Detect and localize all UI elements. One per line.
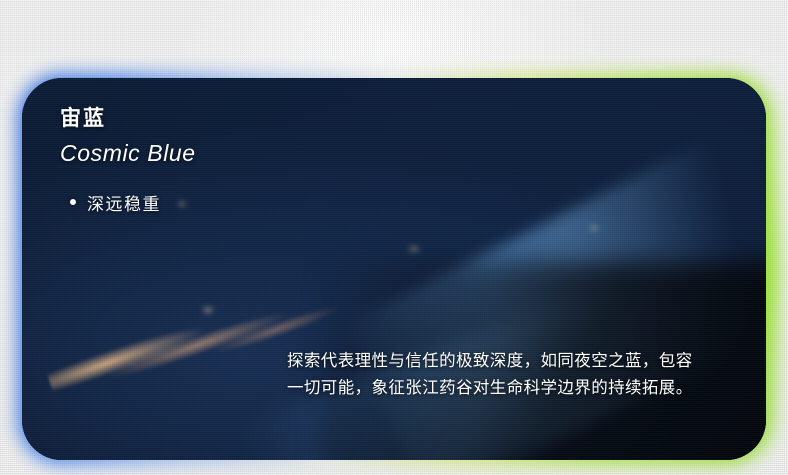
heading-block: 宙蓝 Cosmic Blue 深远稳重 (60, 106, 196, 215)
bullet-item-label: 深远稳重 (87, 190, 161, 215)
card-description: 探索代表理性与信任的极致深度，如同夜空之蓝，包容一切可能，象征张江药谷对生命科学… (287, 348, 707, 401)
card-glow-halo: 宙蓝 Cosmic Blue 深远稳重 探索代表理性与信任的极致深度，如同夜空之… (22, 78, 766, 460)
bullet-item: 深远稳重 (70, 190, 196, 215)
page-background: 宙蓝 Cosmic Blue 深远稳重 探索代表理性与信任的极致深度，如同夜空之… (0, 0, 788, 475)
bullet-dot-icon (70, 199, 76, 205)
cosmic-blue-card[interactable]: 宙蓝 Cosmic Blue 深远稳重 探索代表理性与信任的极致深度，如同夜空之… (22, 78, 766, 460)
card-title-en: Cosmic Blue (60, 140, 196, 168)
card-title-cn: 宙蓝 (60, 106, 196, 131)
card-text-layer: 宙蓝 Cosmic Blue 深远稳重 探索代表理性与信任的极致深度，如同夜空之… (22, 78, 766, 460)
